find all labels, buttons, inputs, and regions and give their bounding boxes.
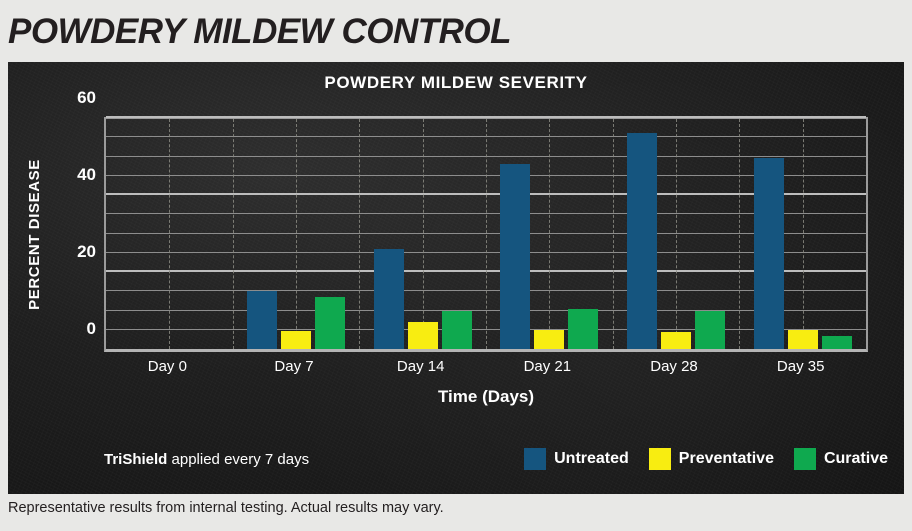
bar-group [739, 119, 866, 349]
x-tick-label: Day 28 [650, 358, 698, 375]
page-title: POWDERY MILDEW CONTROL [8, 8, 708, 56]
bar-preventative [281, 331, 311, 349]
x-tick-label: Day 14 [397, 358, 445, 375]
x-tick-label: Day 21 [524, 358, 572, 375]
bar-preventative [408, 322, 438, 349]
bar-curative [442, 311, 472, 350]
legend-swatch-icon [649, 448, 671, 470]
footer-disclaimer: Representative results from internal tes… [8, 500, 898, 516]
bar-untreated [754, 158, 784, 349]
y-tick-label: 20 [77, 242, 96, 262]
y-tick-label: 40 [77, 165, 96, 185]
bar-curative [695, 311, 725, 350]
legend-swatch-icon [794, 448, 816, 470]
plot-area: 0204060 [104, 117, 868, 352]
bar-untreated [374, 249, 404, 349]
chart-legend: TriShield applied every 7 days Untreated… [8, 444, 904, 474]
legend-note: TriShield applied every 7 days [104, 451, 309, 468]
x-axis-label: Time (Days) [104, 387, 868, 407]
bar-group [233, 119, 360, 349]
chart-panel: POWDERY MILDEW SEVERITY PERCENT DISEASE … [8, 62, 904, 494]
legend-item: Untreated [524, 448, 629, 470]
legend-item: Curative [794, 448, 888, 470]
bar-curative [568, 309, 598, 349]
y-axis-label: PERCENT DISEASE [22, 117, 46, 352]
y-axis-label-text: PERCENT DISEASE [26, 159, 43, 310]
bar-group [613, 119, 740, 349]
bar-untreated [247, 291, 277, 349]
y-tick-label: 0 [87, 319, 96, 339]
legend-item-label: Curative [824, 450, 888, 468]
bar-group [359, 119, 486, 349]
y-tick-label: 60 [77, 88, 96, 108]
legend-item: Preventative [649, 448, 774, 470]
bar-preventative [661, 332, 691, 349]
bar-preventative [534, 330, 564, 349]
legend-swatch-icon [524, 448, 546, 470]
bar-curative [822, 336, 852, 349]
x-tick-label: Day 7 [274, 358, 313, 375]
bar-group [486, 119, 613, 349]
bar-untreated [500, 164, 530, 349]
legend-items: UntreatedPreventativeCurative [524, 448, 888, 470]
bar-preventative [788, 330, 818, 349]
x-tick-label: Day 35 [777, 358, 825, 375]
legend-note-brand: TriShield [104, 451, 167, 468]
gridline-horizontal [106, 116, 866, 118]
infographic-page: POWDERY MILDEW CONTROL POWDERY MILDEW SE… [0, 0, 912, 531]
chart-title: POWDERY MILDEW SEVERITY [8, 73, 904, 93]
bar-group [106, 119, 233, 349]
x-tick-label: Day 0 [148, 358, 187, 375]
bar-untreated [627, 133, 657, 349]
legend-note-text: applied every 7 days [167, 451, 309, 468]
bar-curative [315, 297, 345, 349]
legend-item-label: Preventative [679, 450, 774, 468]
legend-item-label: Untreated [554, 450, 629, 468]
